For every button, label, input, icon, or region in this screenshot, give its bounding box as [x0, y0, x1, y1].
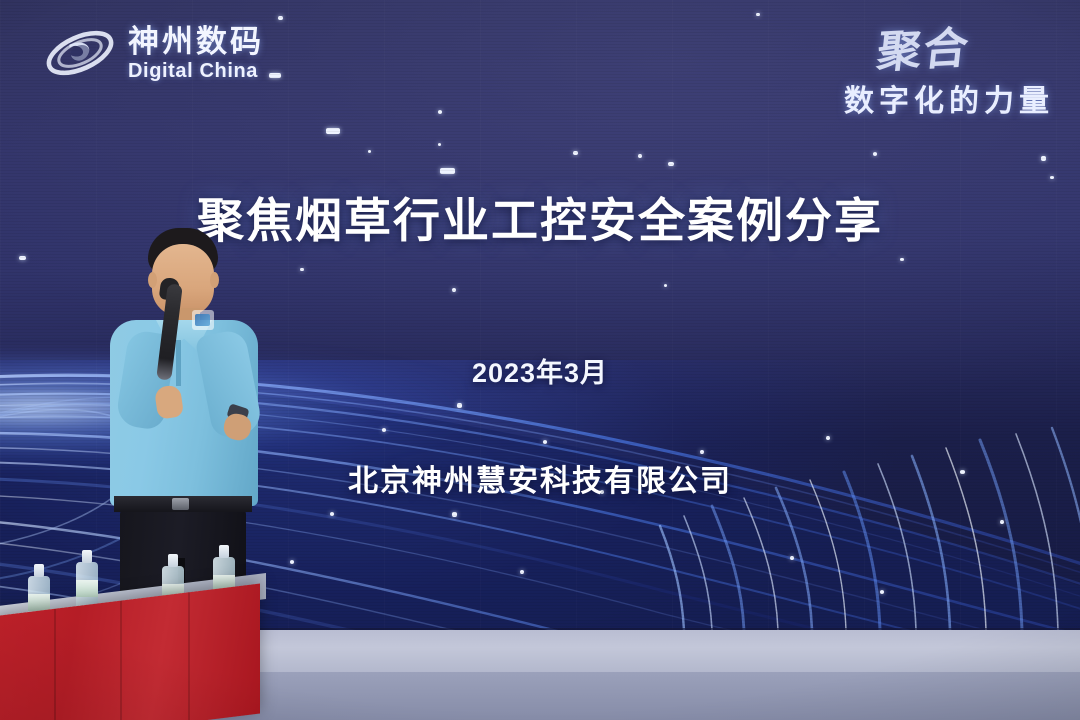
- digital-china-logo: 神州数码 Digital China: [42, 22, 264, 84]
- bottle-label: [76, 580, 98, 597]
- speaker-face: [152, 244, 214, 316]
- particle-dot: [452, 512, 457, 517]
- particle-dot: [438, 143, 441, 146]
- bottle-label: [28, 594, 50, 611]
- particle-dot: [326, 128, 340, 134]
- digital-china-swirl-logo-icon: [42, 22, 118, 84]
- particle-dot: [290, 560, 294, 564]
- event-theme-logo: 聚合 数字化的力量: [844, 14, 1054, 120]
- particle-dot: [873, 152, 877, 156]
- bottle-cap: [82, 550, 92, 563]
- particle-dot: [438, 110, 442, 114]
- speaker-ear-right: [210, 272, 219, 288]
- particle-dot: [520, 570, 524, 574]
- water-bottle: [76, 550, 98, 612]
- particle-dot: [457, 403, 462, 408]
- particle-dot: [382, 428, 386, 432]
- particle-dot: [1041, 156, 1046, 161]
- particle-dot: [543, 440, 547, 444]
- event-tagline: 数字化的力量: [844, 76, 1054, 120]
- particle-dot: [440, 168, 455, 174]
- particle-dot: [756, 13, 760, 16]
- conference-stage-photo: 神州数码 Digital China 聚合 数字化的力量 聚焦烟草行业工控安全案…: [0, 0, 1080, 720]
- particle-dot: [269, 73, 281, 78]
- event-calligraphy: 聚合: [874, 12, 973, 81]
- particle-dot: [1000, 520, 1004, 524]
- particle-dot: [573, 151, 578, 155]
- brand-name-cn: 神州数码: [128, 26, 264, 57]
- brand-name-en: Digital China: [128, 61, 264, 81]
- speaker-shirt-placket: [176, 340, 181, 386]
- particle-dot: [790, 556, 794, 560]
- speaker-ear-left: [148, 272, 157, 288]
- particle-dot: [330, 512, 334, 516]
- skirt-fold: [54, 609, 56, 720]
- company-logo-badge-icon: [195, 314, 210, 326]
- particle-dot: [700, 450, 704, 454]
- particle-dot: [452, 288, 456, 292]
- particle-dot: [19, 256, 26, 260]
- particle-dot: [664, 284, 667, 287]
- bottle-cap: [168, 554, 178, 567]
- bottle-cap: [219, 545, 229, 558]
- particle-dot: [638, 154, 642, 158]
- particle-dot: [368, 150, 371, 153]
- speaker-belt-buckle: [172, 498, 189, 510]
- bottle-cap: [34, 564, 44, 577]
- particle-dot: [880, 590, 884, 594]
- particle-dot: [1050, 176, 1054, 179]
- particle-dot: [300, 268, 304, 271]
- skirt-fold: [188, 592, 190, 720]
- particle-dot: [900, 258, 904, 261]
- particle-dot: [668, 162, 674, 166]
- particle-dot: [826, 436, 830, 440]
- particle-dot: [278, 16, 283, 20]
- skirt-fold: [120, 600, 122, 720]
